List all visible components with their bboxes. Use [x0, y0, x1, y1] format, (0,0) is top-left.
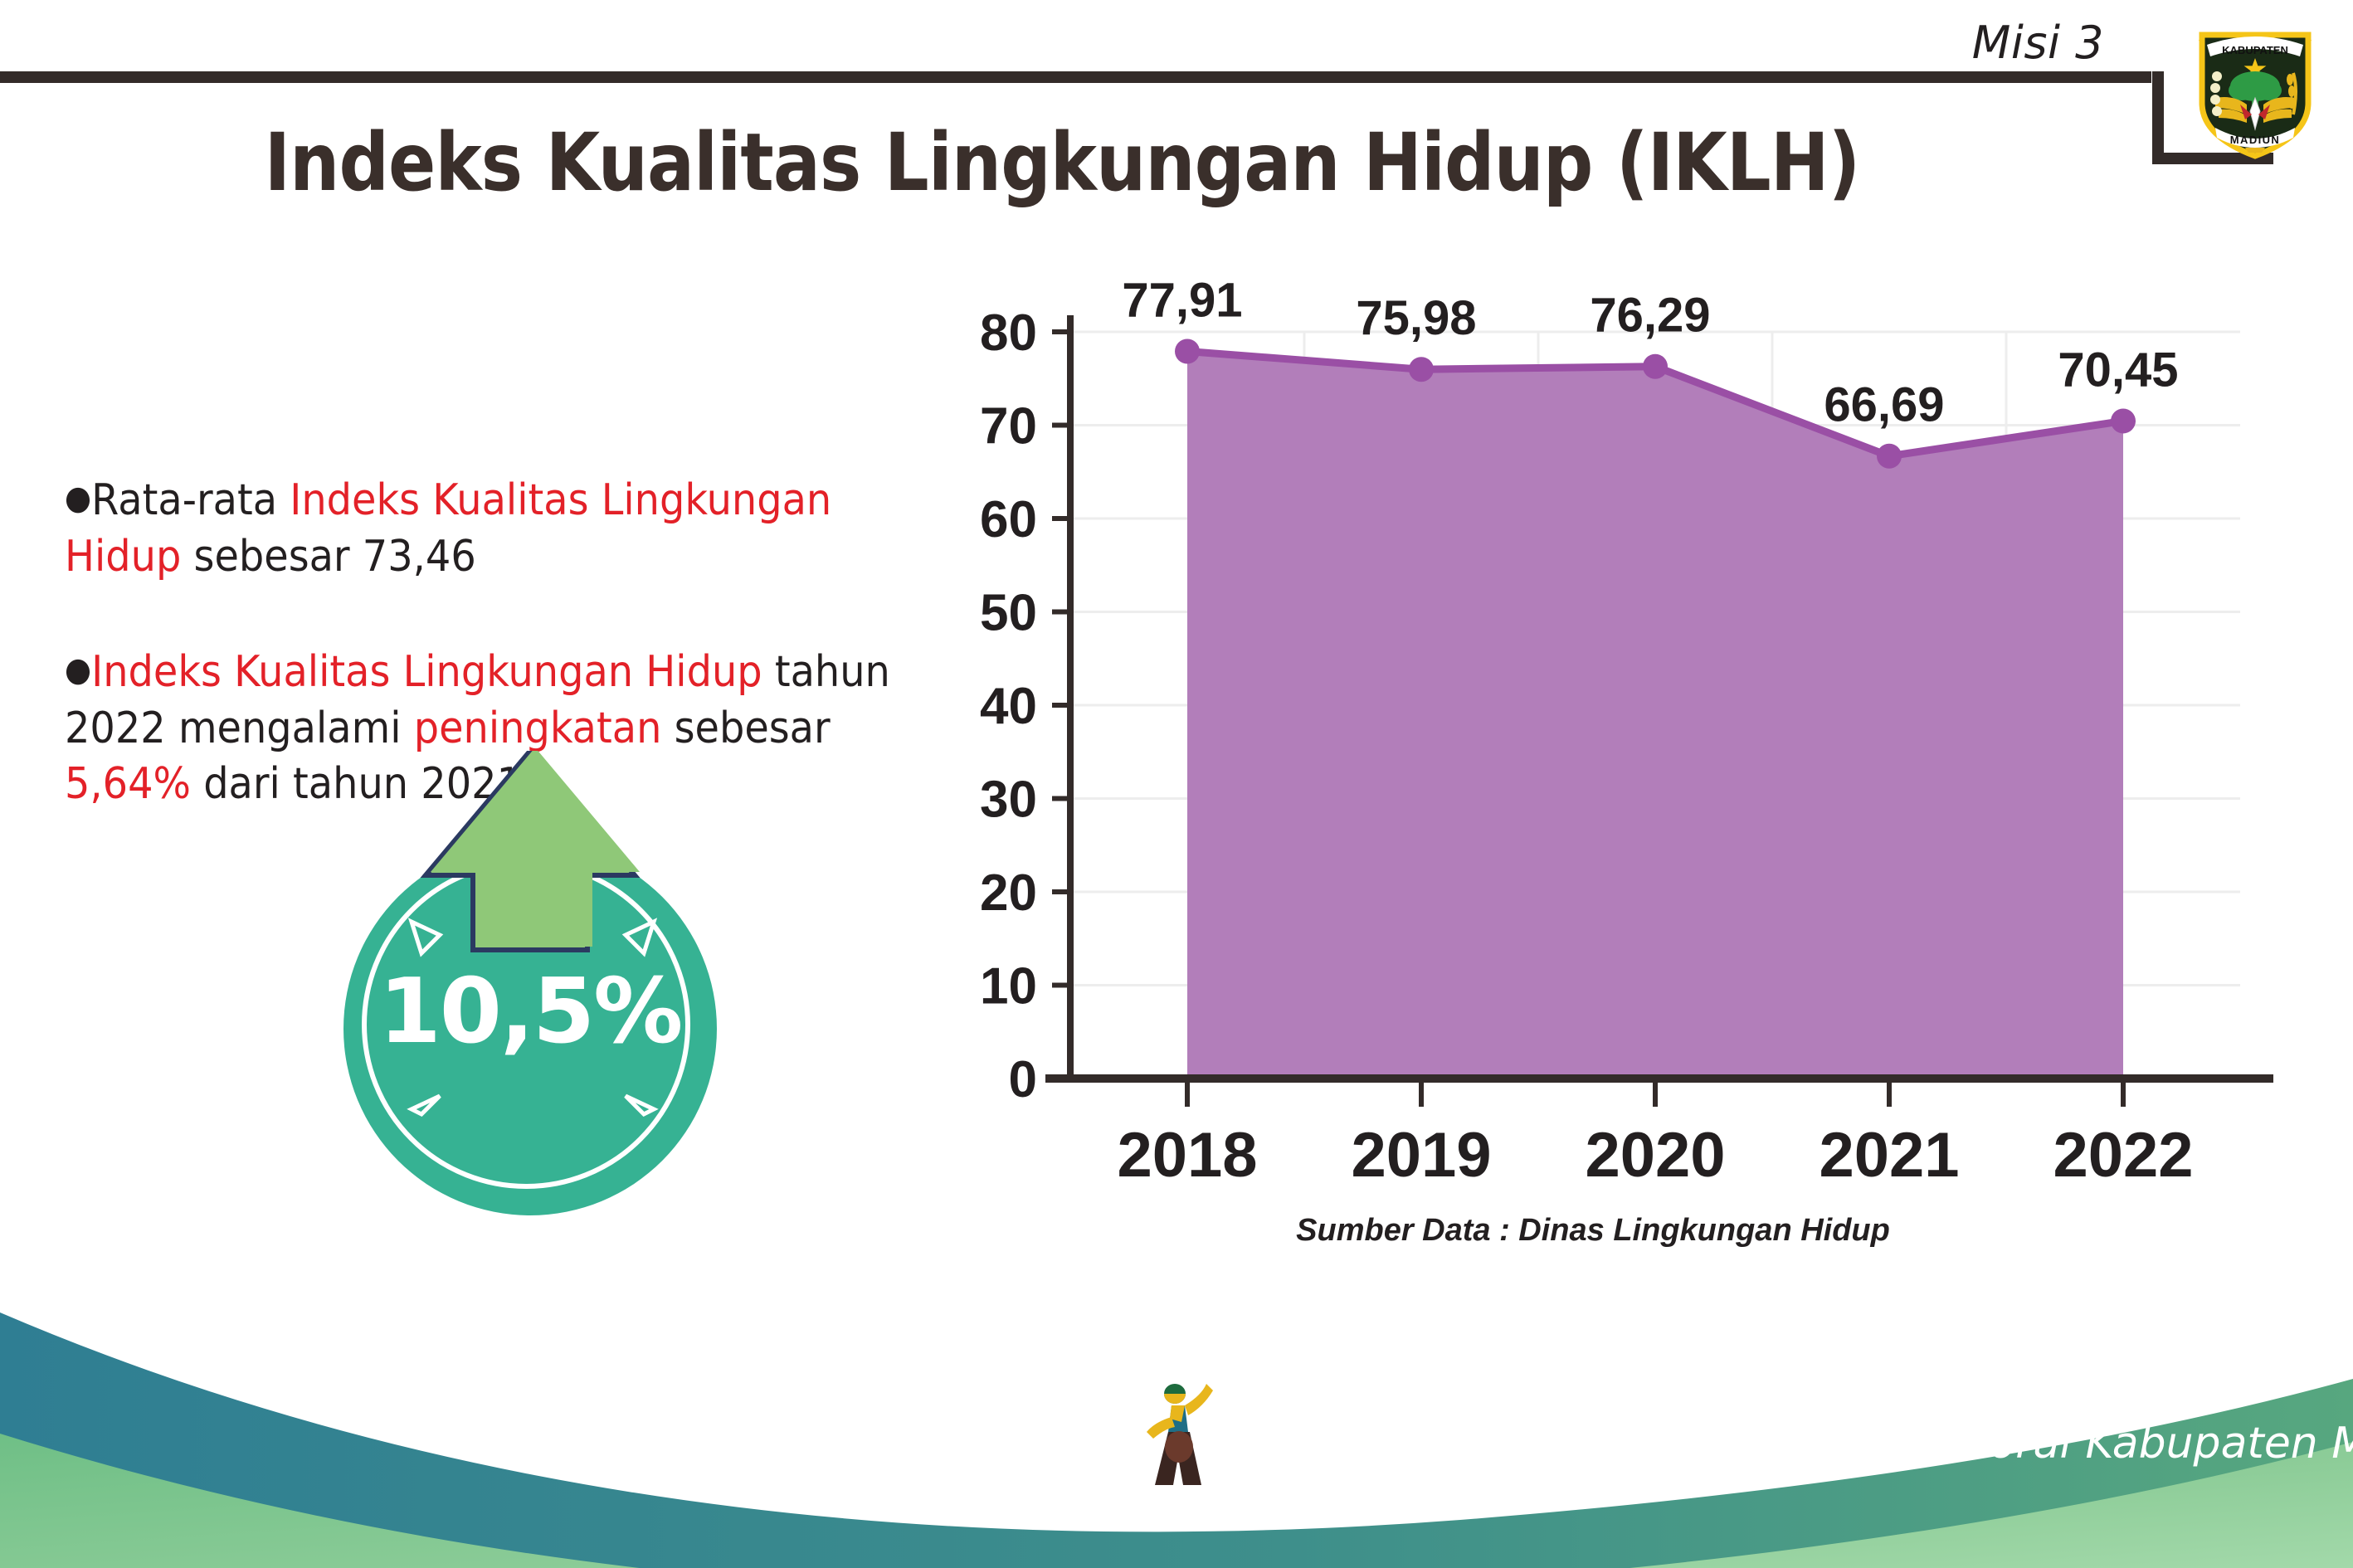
y-tick-label: 70 — [980, 398, 1037, 455]
triangle-arrow-top-right-icon — [626, 922, 654, 953]
bullet-1-seg-0: Indeks Kualitas Lingkungan Hidup — [91, 647, 762, 697]
triangle-arrow-bottom-right-icon — [626, 1096, 654, 1114]
data-label: 66,69 — [1824, 378, 1944, 432]
y-tick-label: 40 — [980, 678, 1037, 735]
y-tick-label: 60 — [980, 491, 1037, 548]
y-tick-label: 10 — [980, 958, 1037, 1015]
y-tick-label: 50 — [980, 585, 1037, 642]
bullet-0-seg-0: Rata-rata — [91, 475, 290, 525]
chart-area-series — [1187, 352, 2123, 1079]
x-tick-label: 2020 — [1585, 1120, 1725, 1191]
iklh-area-chart: 01020304050607080 20182019202020212022 7… — [946, 282, 2290, 1211]
bullet-item-average: ●Rata-rata Indeks Kualitas Lingkungan Hi… — [65, 473, 897, 585]
misi-label: Misi 3 — [1972, 17, 2104, 69]
triangle-arrow-bottom-left-icon — [412, 1096, 440, 1114]
kabupaten-madiun-logo-icon: KABUPATEN MADIUN — [2187, 12, 2323, 161]
data-point-marker — [1877, 444, 1902, 469]
area-fill — [1187, 352, 2123, 1079]
chart-canvas: 01020304050607080 20182019202020212022 7… — [946, 282, 2290, 1211]
triangle-arrow-top-left-icon — [412, 922, 440, 953]
page-title: Indeks Kualitas Lingkungan Hidup (IKLH) — [128, 116, 1997, 209]
bullet-1-seg-4: 5,64% — [65, 759, 191, 809]
up-arrow-icon-overlay — [431, 751, 640, 947]
statistics-mascot-icon — [1138, 1381, 1230, 1488]
data-label: 70,45 — [2058, 343, 2178, 397]
increase-badge: 10,5% — [325, 751, 773, 1215]
logo-top-text: KABUPATEN — [2222, 44, 2288, 56]
bullet-dot: ● — [65, 480, 91, 518]
chart-y-tick-labels: 01020304050607080 — [980, 304, 1037, 1108]
y-tick-label: 0 — [1009, 1051, 1037, 1108]
x-tick-label: 2022 — [2053, 1120, 2193, 1191]
bullet-0-seg-2: sebesar 73,46 — [181, 532, 475, 582]
data-label: 75,98 — [1356, 291, 1476, 345]
data-point-marker — [2111, 408, 2136, 433]
bullet-1-seg-2: peningkatan — [414, 704, 662, 753]
data-point-marker — [1175, 339, 1200, 364]
x-tick-label: 2018 — [1117, 1120, 1257, 1191]
bullet-1-seg-3: sebesar — [661, 704, 830, 753]
data-point-marker — [1643, 354, 1668, 379]
logo-frame-vertical-bar — [2152, 71, 2164, 164]
data-label: 76,29 — [1590, 289, 1710, 343]
x-tick-label: 2019 — [1351, 1120, 1491, 1191]
chart-x-tick-labels: 20182019202020212022 — [1117, 1120, 2193, 1191]
data-label: 77,91 — [1122, 282, 1242, 328]
data-point-marker — [1409, 357, 1434, 382]
y-tick-label: 80 — [980, 304, 1037, 362]
y-tick-label: 30 — [980, 772, 1037, 829]
bullet-dot: ● — [65, 651, 91, 689]
badge-value: 10,5% — [343, 960, 717, 1064]
header-divider-rule — [0, 71, 2151, 83]
x-tick-label: 2021 — [1819, 1120, 1959, 1191]
logo-bottom-text: MADIUN — [2230, 134, 2280, 146]
infographic-slide: Misi 3 KABUPATEN — [0, 0, 2353, 1568]
footer-caption: Media Infografis Data Statistik Sektoral… — [1226, 1419, 2353, 1468]
y-tick-label: 20 — [980, 864, 1037, 922]
